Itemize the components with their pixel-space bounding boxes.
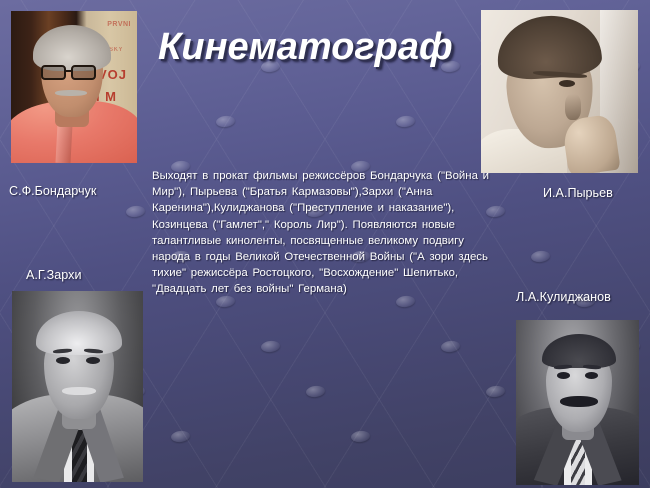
photo-kulidzhanov: [516, 320, 639, 485]
caption-zarkhi: А.Г.Зархи: [26, 268, 81, 282]
photo-pyryev: [481, 10, 638, 173]
slide-title: Кинематограф: [158, 26, 453, 69]
photo-pyryev-nose: [565, 94, 581, 120]
photo-kulidzhanov-moustache: [560, 396, 598, 407]
photo-kulidzhanov-eye-left: [557, 372, 570, 379]
slide-body-text: Выходят в прокат фильмы режиссёров Бонда…: [152, 168, 500, 298]
photo-zarkhi-eye-left: [56, 357, 70, 364]
photo-bondarchuk: PRVNI SLOVENSKY VOJ I M: [11, 11, 137, 163]
caption-pyryev: И.А.Пырьев: [543, 186, 613, 200]
photo-pyryev-eye: [559, 80, 575, 87]
caption-bondarchuk: С.Ф.Бондарчук: [9, 184, 96, 198]
photo-bondarchuk-moustache: [55, 90, 87, 96]
caption-kulidzhanov: Л.А.Кулиджанов: [516, 290, 611, 304]
photo-zarkhi: [12, 291, 143, 482]
presentation-slide: PRVNI SLOVENSKY VOJ I M С.Ф.Бондарчук И.…: [0, 0, 650, 488]
photo-bondarchuk-glasses: [40, 65, 104, 81]
poster-text-line-1: PRVNI: [107, 21, 131, 28]
photo-zarkhi-eye-right: [86, 357, 100, 364]
photo-kulidzhanov-eye-right: [585, 372, 598, 379]
photo-zarkhi-moustache: [62, 387, 96, 395]
